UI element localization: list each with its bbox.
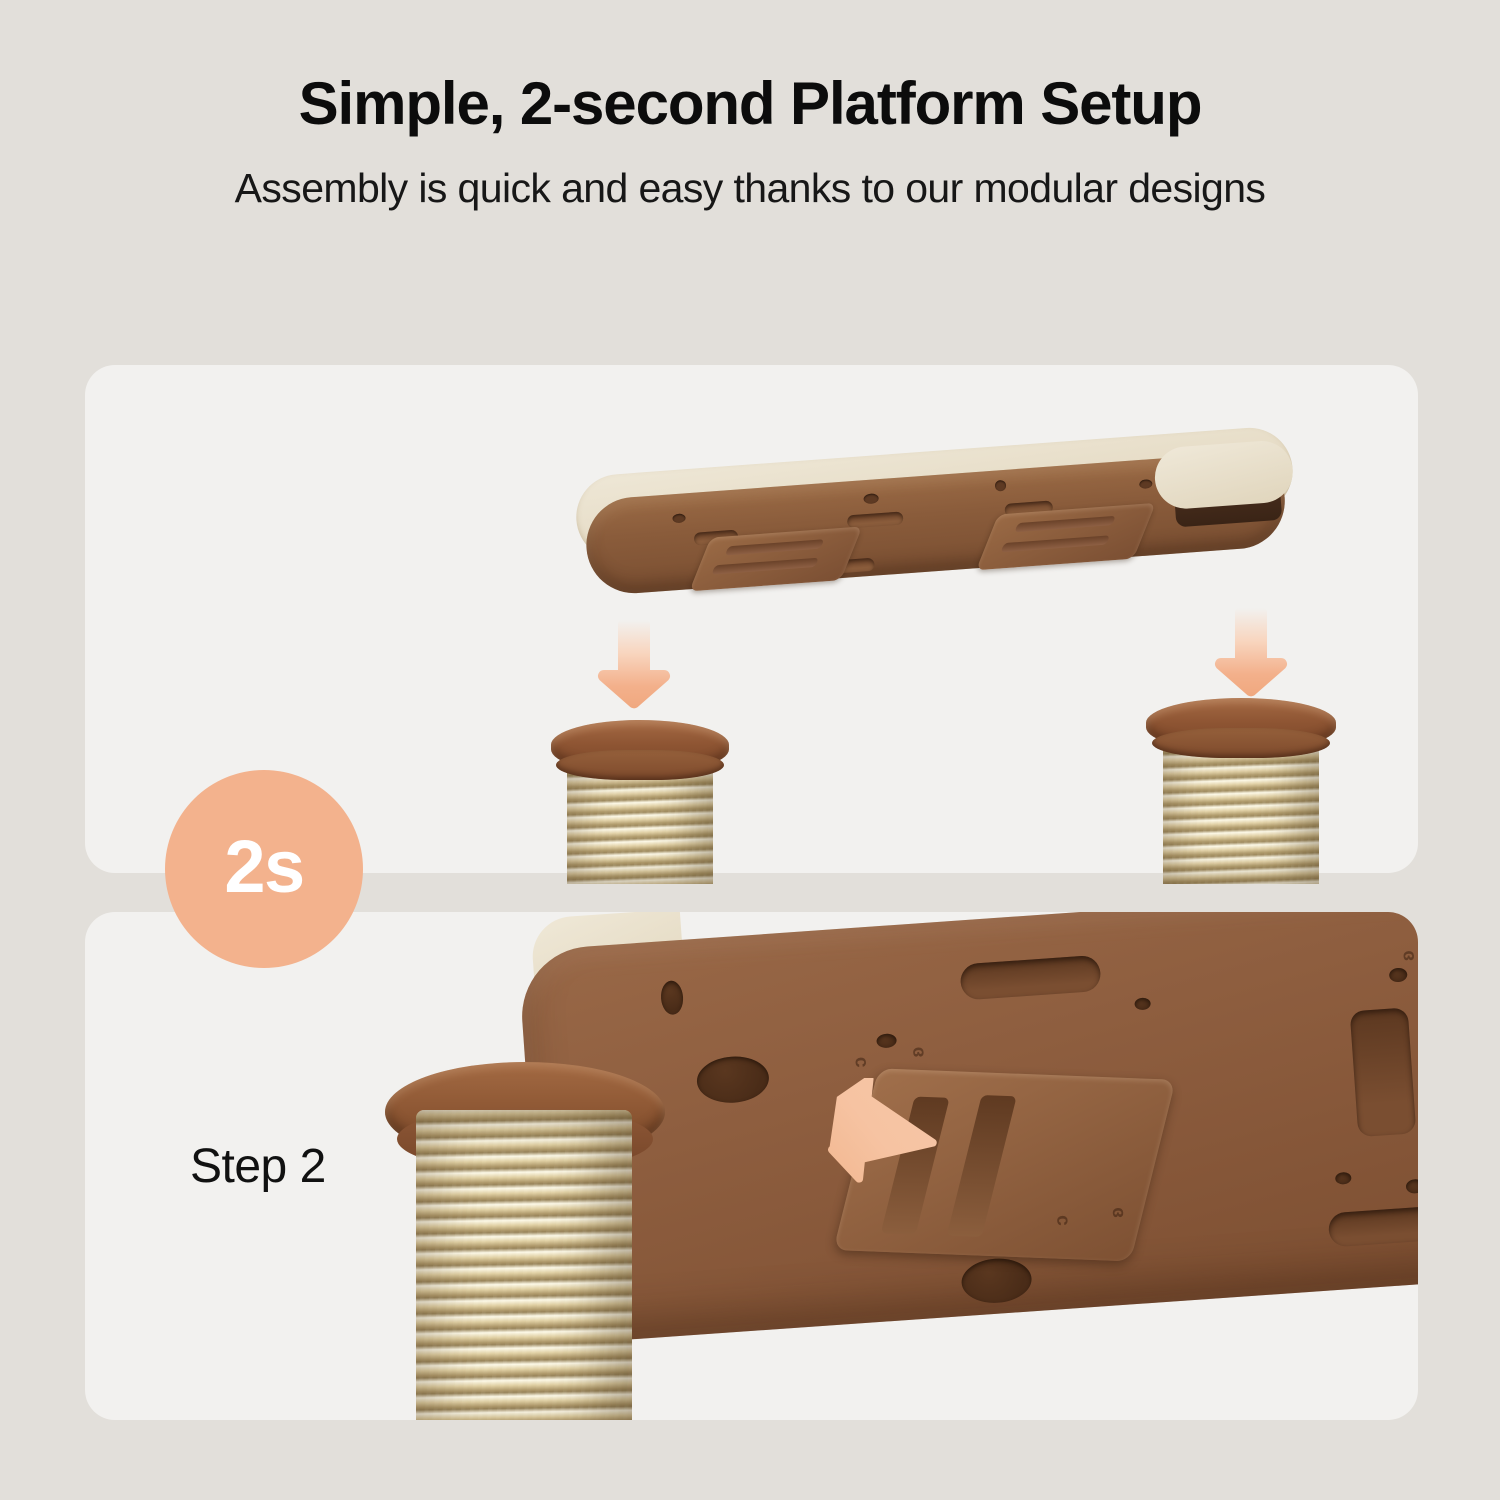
platform-bolt-hole: [1335, 1172, 1352, 1185]
sisal-rope-wrap: [567, 766, 713, 884]
board-mount-rail: [1001, 535, 1110, 552]
platform-recess-slot: [1350, 1007, 1417, 1137]
page-subtitle: Assembly is quick and easy thanks to our…: [0, 134, 1500, 209]
molding-mark: ʚ: [1107, 1207, 1130, 1218]
page-header: Simple, 2-second Platform Setup Assembly…: [0, 0, 1500, 209]
platform-bolt-hole: [960, 1256, 1033, 1305]
platform-bolt-hole: [695, 1054, 770, 1105]
molding-mark: ʚ: [907, 1047, 930, 1058]
board-bolt-hole: [863, 493, 879, 504]
duration-badge-label: 2s: [224, 830, 303, 904]
platform-bolt-hole: [660, 980, 684, 1015]
platform-mount-rail: [947, 1095, 1017, 1237]
platform-board: [573, 425, 1298, 605]
molding-mark: ɔ: [1051, 1215, 1074, 1226]
platform-bolt-hole: [876, 1033, 897, 1048]
board-mount-rail: [711, 558, 818, 575]
molding-mark: ɔ: [850, 1057, 873, 1068]
platform-bolt-hole: [1389, 967, 1408, 982]
board-mount-rail-housing: [976, 503, 1156, 570]
board-bolt-hole: [1139, 479, 1153, 489]
platform-bolt-hole: [1406, 1179, 1418, 1194]
sisal-rope-wrap: [1163, 744, 1319, 884]
board-mount-rail: [725, 539, 824, 555]
step-2-label: Step 2: [190, 1139, 326, 1194]
duration-badge: 2s: [165, 770, 363, 968]
molding-mark: ʚ: [1398, 951, 1418, 962]
board-bolt-hole: [672, 513, 686, 523]
board-side-lip: [1153, 439, 1295, 511]
post-cap-ring: [1152, 728, 1331, 758]
step-2-card: ɔ ʚ ɔ ʚ ʚ Step 2: [85, 912, 1418, 1420]
arrow-down-icon: [595, 618, 673, 710]
platform-recess-slot: [959, 955, 1101, 1001]
arrow-down-icon: [1212, 606, 1290, 698]
sisal-post-right: [1146, 698, 1336, 880]
page-title: Simple, 2-second Platform Setup: [0, 74, 1500, 134]
platform-bolt-hole: [1134, 997, 1151, 1010]
post-cap-ring: [556, 750, 723, 780]
platform-recess-slot: [1328, 1205, 1418, 1247]
arrow-left-icon: [822, 1078, 942, 1188]
sisal-post-left: [551, 720, 729, 880]
board-bolt-hole: [995, 480, 1007, 492]
sisal-post-step2: [416, 1110, 632, 1420]
board-mount-rail: [1014, 516, 1115, 532]
